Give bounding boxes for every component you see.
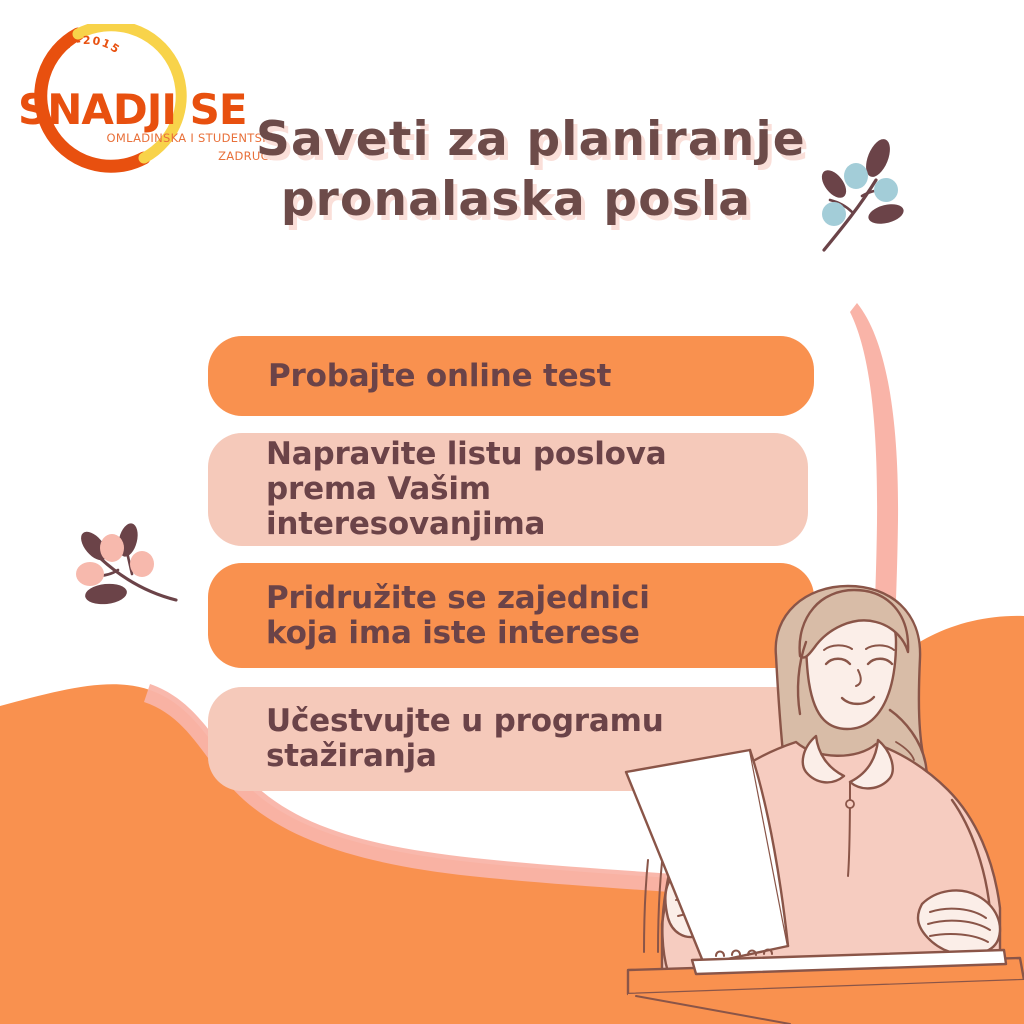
woman-reading-document-at-desk-illustration [600,560,1024,1024]
berry-pink-2 [130,551,154,577]
page-title-line1: Saveti za planiranje [256,110,776,170]
logo-est-text: Est -2015 [45,34,122,63]
tip-item-1[interactable]: Probajte online test [208,336,814,416]
tip-item-2[interactable]: Napravite listu poslova prema Vašim inte… [208,433,808,546]
logo-wordmark: SNADJI SE [18,85,247,134]
leaf-brown-3 [866,201,905,227]
olive-branch-blue-berries-icon [812,128,922,258]
berry-blue-3 [874,178,898,202]
berry-blue-1 [844,163,868,189]
tip-label-1: Probajte online test [268,359,611,394]
berry-pink-3 [76,562,104,586]
olive-branch-pink-berries-icon [66,512,186,632]
page-title-line2: pronalaska posla [256,170,776,230]
page-title: Saveti za planiranje pronalaska posla [256,110,776,230]
logo-tagline-line1: OMLADINSKA I STUDENTSKA [107,131,278,145]
shirt-button [846,800,854,808]
poster-canvas: Est -2015 SNADJI SE OMLADINSKA I STUDENT… [0,0,1024,1024]
tip-label-3: Pridružite se zajednici koja ima iste in… [266,581,650,650]
chair-back [644,860,648,952]
berry-blue-2 [822,202,846,226]
tip-label-2: Napravite listu poslova prema Vašim inte… [266,437,667,541]
berry-pink-1 [100,534,124,562]
snadji-se-logo[interactable]: Est -2015 SNADJI SE OMLADINSKA I STUDENT… [14,24,286,176]
